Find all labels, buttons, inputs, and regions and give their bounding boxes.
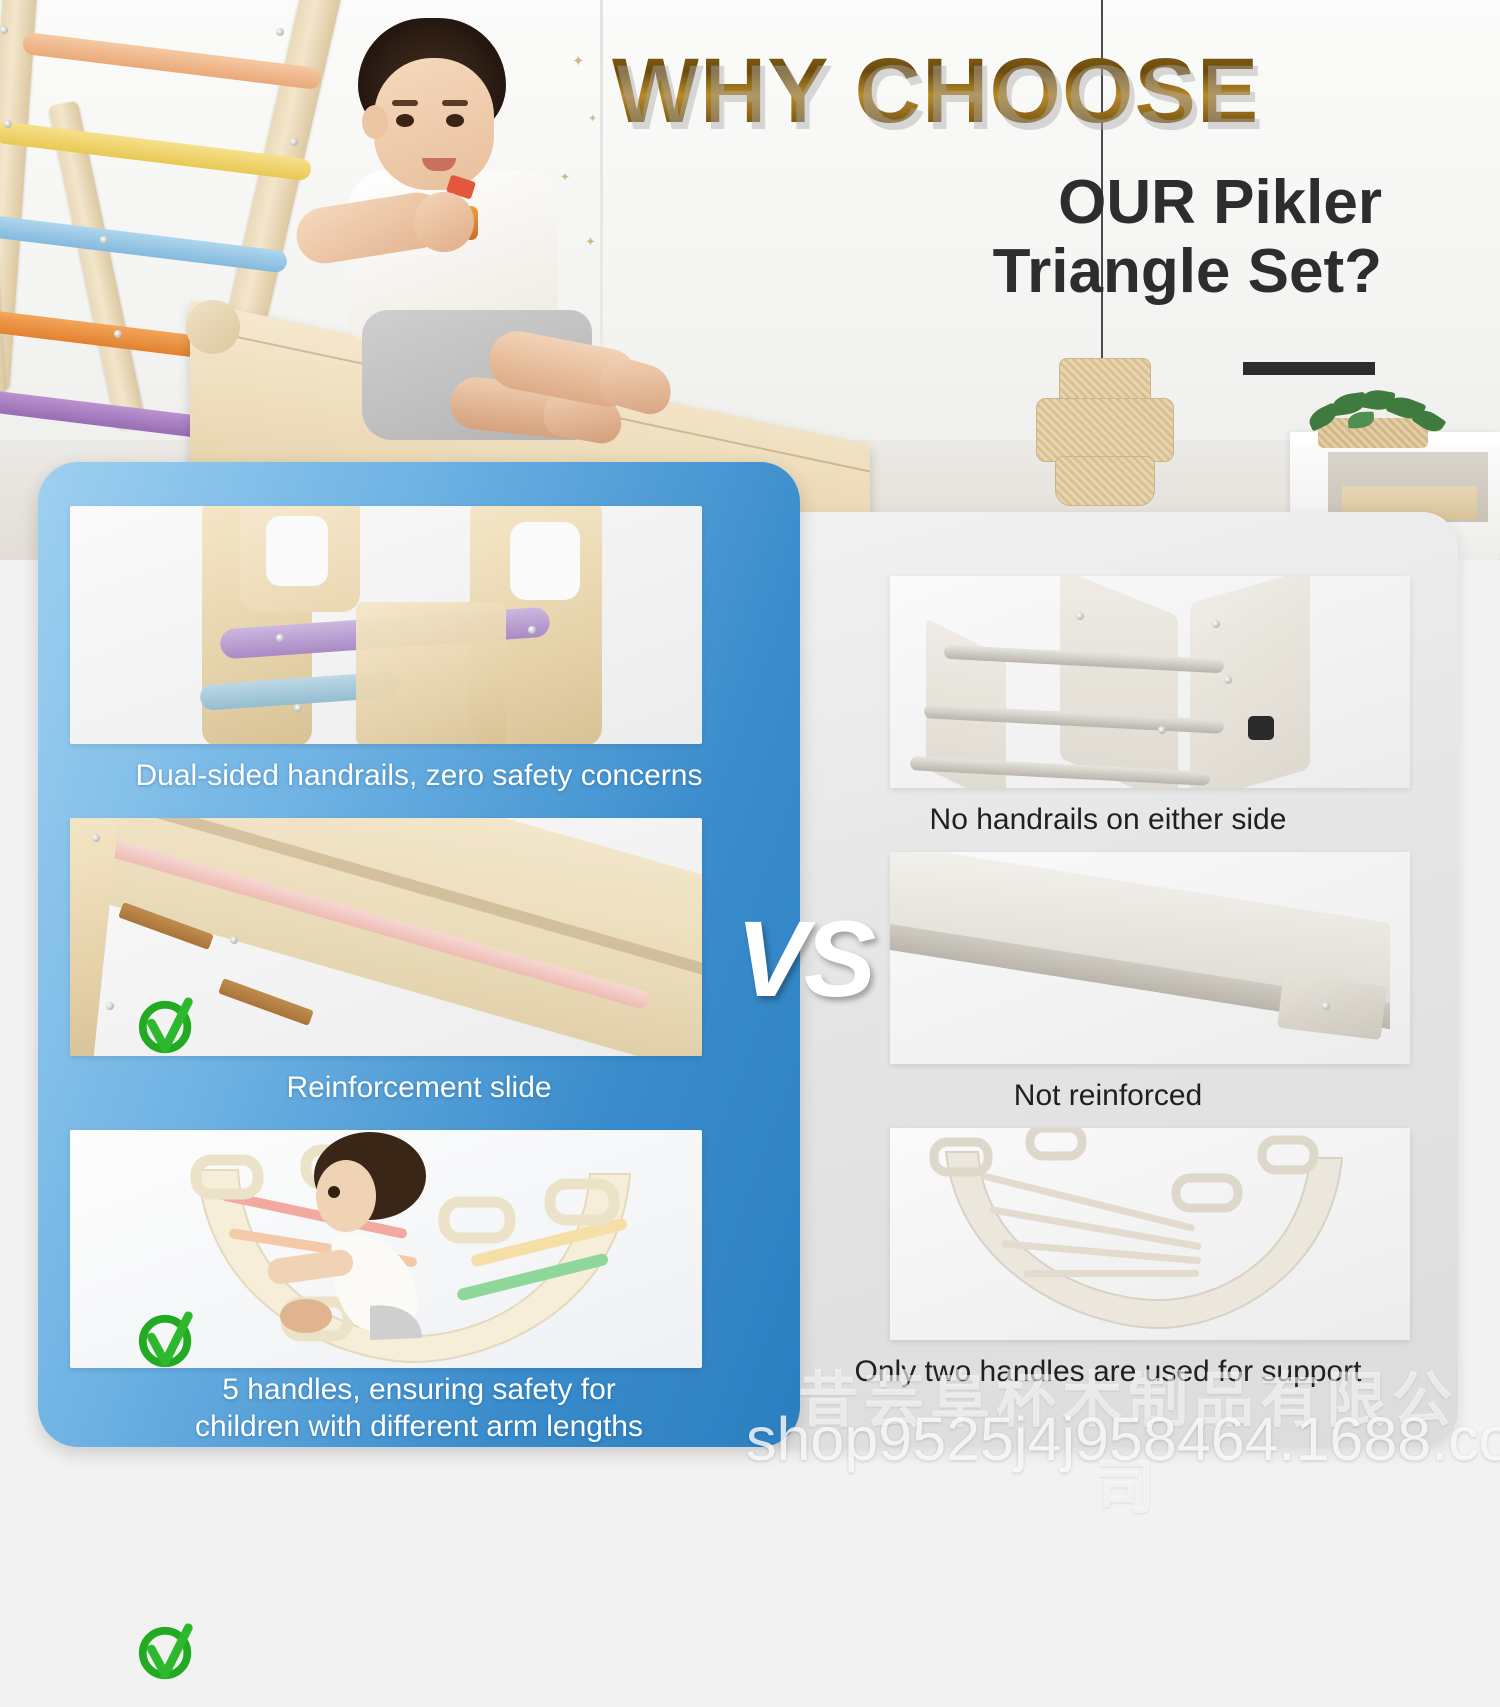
green-check-icon [136, 1310, 198, 1372]
competitor-photo-slide [890, 852, 1410, 1064]
rung-purple [0, 383, 210, 439]
page-subtitle: OUR Pikler Triangle Set? [612, 168, 1382, 307]
potted-plant [1296, 390, 1456, 448]
our-caption-3: 5 handles, ensuring safety for children … [38, 1372, 800, 1445]
child-photo [300, 10, 640, 460]
title-underline-rule [1243, 362, 1375, 375]
vs-badge: VS [736, 896, 872, 1021]
page-subtitle-line1: OUR Pikler [612, 168, 1382, 237]
our-caption-3-line2: children with different arm lengths [38, 1409, 800, 1446]
our-photo-handrails [70, 506, 702, 744]
green-check-icon [136, 996, 198, 1058]
our-caption-2: Reinforcement slide [38, 1070, 800, 1107]
competitor-caption-1: No handrails on either side [758, 802, 1458, 839]
our-caption-3-line1: 5 handles, ensuring safety for [38, 1372, 800, 1409]
page-subtitle-line2: Triangle Set? [612, 237, 1382, 306]
our-product-panel: Dual-sided handrails, zero safety concer… [38, 462, 800, 1447]
rung-peach [22, 32, 322, 90]
slide-pivot-knob [186, 300, 240, 354]
page-title: WHY CHOOSE [612, 46, 1259, 136]
our-caption-1: Dual-sided handrails, zero safety concer… [38, 758, 800, 795]
pendant-lamp [1035, 358, 1175, 508]
competitor-photo-rocker [890, 1128, 1410, 1340]
green-check-icon [136, 1622, 198, 1684]
competitor-caption-2: Not reinforced [758, 1078, 1458, 1115]
competitor-photo-handrails [890, 576, 1410, 788]
competitor-caption-3: Only two handles are used for support [758, 1354, 1458, 1391]
